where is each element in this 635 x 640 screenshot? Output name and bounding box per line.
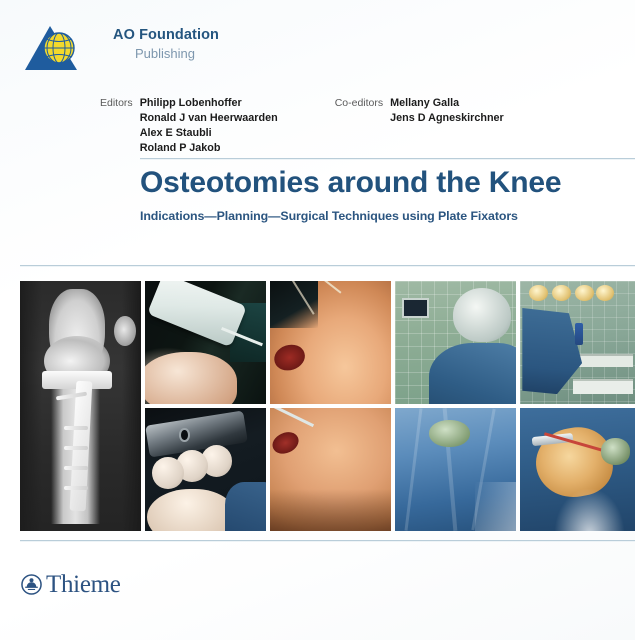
publisher-logo-block: AO Foundation Publishing [23, 24, 219, 74]
photo-region [270, 408, 314, 427]
photo-region [402, 298, 429, 318]
photo-retractor-closeup [145, 408, 266, 531]
photo-region [145, 352, 237, 404]
book-subtitle: Indications—Planning—Surgical Techniques… [140, 209, 620, 223]
photo-region [601, 438, 631, 465]
cover-photo-grid [20, 281, 635, 531]
photo-region [475, 482, 516, 531]
photo-region [429, 420, 470, 447]
credits-block: Editors Philipp Lobenhoffer Ronald J van… [100, 96, 600, 156]
editor-name: Roland P Jakob [140, 141, 278, 156]
photo-region [575, 285, 593, 301]
photo-region [573, 379, 633, 394]
photo-region [578, 354, 633, 368]
publisher-name: AO Foundation [113, 27, 219, 44]
photo-region [147, 489, 234, 531]
title-divider [140, 158, 635, 160]
co-editors-label: Co-editors [335, 96, 383, 109]
photo-instrument-tray [520, 281, 635, 404]
publisher-wordmark: AO Foundation Publishing [113, 24, 219, 62]
editors-names: Philipp Lobenhoffer Ronald J van Heerwaa… [140, 96, 278, 156]
photo-region [552, 285, 570, 301]
photo-region [152, 457, 183, 489]
thieme-emblem-icon [21, 574, 42, 595]
photo-region [555, 489, 624, 531]
photo-region [20, 281, 42, 531]
photo-blue-gown [395, 408, 516, 531]
title-block: Osteotomies around the Knee Indications—… [140, 166, 620, 223]
photo-region [575, 323, 583, 345]
photo-region [225, 482, 266, 531]
photo-region [64, 446, 88, 450]
photo-draped-knee-surgery [520, 408, 635, 531]
book-cover: AO Foundation Publishing Editors Philipp… [0, 0, 635, 640]
photo-region [147, 281, 247, 348]
photo-region [270, 281, 318, 328]
imprint-block: Thieme [21, 572, 121, 597]
photo-region [270, 489, 391, 531]
photo-region [529, 285, 547, 301]
book-title: Osteotomies around the Knee [140, 166, 620, 200]
photo-region [64, 466, 88, 470]
co-editors-names: Mellany Galla Jens D Agneskirchner [390, 96, 504, 126]
publisher-division: Publishing [135, 46, 219, 62]
editor-name: Philipp Lobenhoffer [140, 96, 278, 111]
photo-syringe-injection [145, 281, 266, 404]
photo-region [596, 285, 614, 301]
photo-region [429, 343, 516, 405]
photo-xray-knee-plate [20, 281, 141, 531]
photo-grid-top-divider [20, 265, 635, 267]
editor-name: Alex E Staubli [140, 126, 278, 141]
photo-region [64, 426, 88, 430]
photo-knee-incision-bottom [270, 408, 391, 531]
editor-name: Ronald J van Heerwaarden [140, 111, 278, 126]
photo-region [404, 408, 422, 530]
photo-region [179, 428, 190, 443]
editors-group: Editors Philipp Lobenhoffer Ronald J van… [100, 96, 278, 156]
photo-region [64, 486, 88, 490]
ao-globe-triangle-icon [23, 24, 83, 74]
editors-label: Editors [100, 96, 133, 109]
photo-region [271, 341, 309, 374]
co-editor-name: Jens D Agneskirchner [390, 111, 504, 126]
photo-grid-bottom-divider [20, 540, 635, 542]
imprint-name: Thieme [46, 572, 121, 597]
co-editor-name: Mellany Galla [390, 96, 504, 111]
photo-knee-incision-top [270, 281, 391, 404]
photo-region [270, 428, 302, 457]
photo-or-surgeon-cap [395, 281, 516, 404]
photo-region [453, 288, 511, 342]
co-editors-group: Co-editors Mellany Galla Jens D Agneskir… [335, 96, 504, 156]
